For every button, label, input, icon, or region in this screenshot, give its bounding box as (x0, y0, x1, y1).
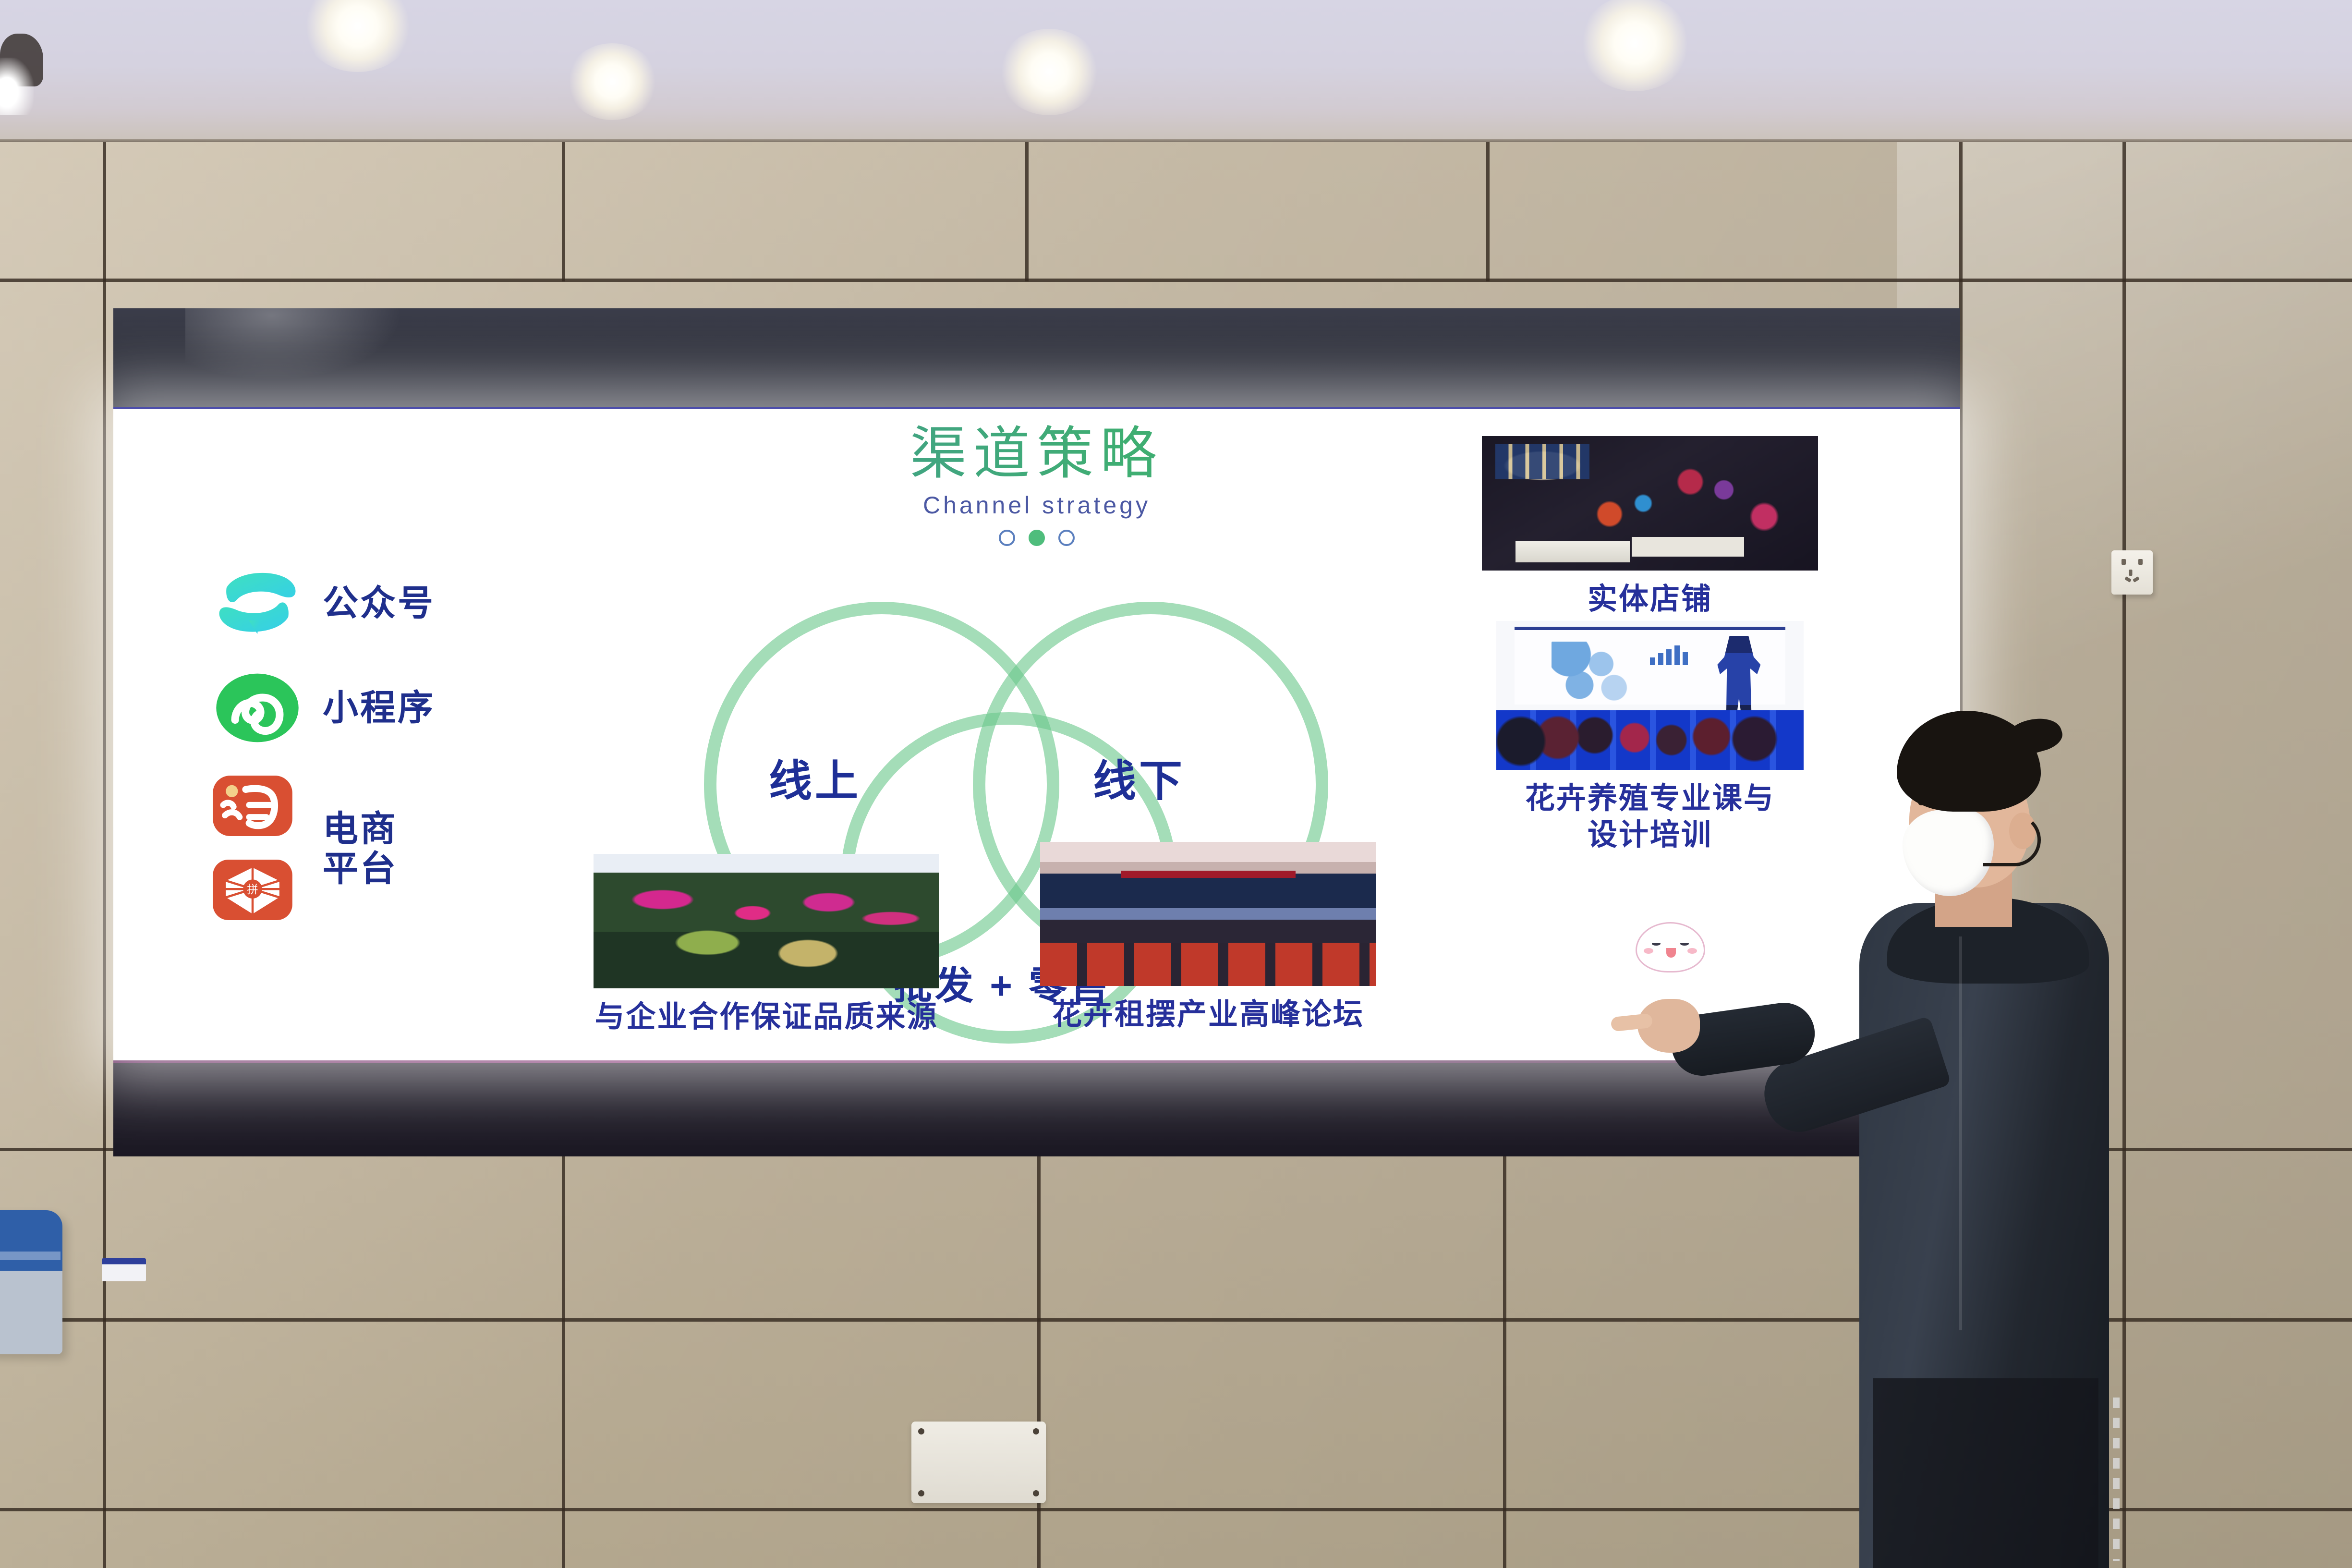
caption-flower-field: 与企业合作保证品质来源 (594, 999, 939, 1035)
progress-dot-3 (1058, 530, 1075, 546)
pants-side-stripe (2113, 1398, 2120, 1561)
wall-access-panel (911, 1422, 1046, 1503)
venn-label-online: 线上 (769, 746, 861, 808)
tile-grout-line (1486, 142, 1490, 281)
downlight-2 (999, 29, 1100, 115)
socket-hole (2122, 559, 2126, 565)
progress-dot-1 (999, 530, 1015, 546)
screen-top-bezel (113, 308, 1960, 409)
channel-label-ecommerce-line2: 平台 (323, 849, 398, 888)
caption-training-course: 花卉养殖专业课与 设计培训 (1496, 780, 1804, 853)
taobao-icon (209, 770, 305, 844)
wall-light-glow (0, 58, 34, 115)
power-socket (2111, 550, 2153, 595)
presentation-slide[interactable]: 渠道策略 Channel strategy (113, 407, 1960, 1060)
sticker-mouth (1666, 948, 1676, 958)
tile-grout-line (1037, 1148, 1041, 1568)
presenter-pants (1873, 1378, 2098, 1568)
trash-bin (0, 1210, 62, 1354)
screen-bottom-bezel (113, 1060, 1960, 1156)
photo-industry-forum (1040, 842, 1376, 986)
channel-label-ecommerce-line1: 电商 (323, 809, 398, 849)
socket-hole (2138, 559, 2143, 565)
caption-industry-forum: 花卉租摆产业高峰论坛 (1040, 997, 1376, 1033)
socket-hole (2129, 570, 2133, 576)
tile-grout-line (562, 1148, 565, 1568)
audience-seats-graphic (1496, 710, 1804, 770)
panel-screw (1033, 1428, 1039, 1434)
progress-dot-2 (1029, 530, 1045, 546)
hoodie-zipper (1959, 936, 1962, 1330)
sticker-cheek (1644, 948, 1653, 954)
photo-card-industry-forum: 花卉租摆产业高峰论坛 (1040, 842, 1376, 1033)
channel-label-mini-program: 小程序 (323, 688, 435, 728)
tile-grout-line (1503, 1148, 1506, 1568)
board-bar-chart-graphic (1650, 645, 1688, 665)
panel-screw (1033, 1490, 1039, 1496)
wechat-official-account-icon (209, 561, 305, 645)
caption-physical-store: 实体店铺 (1482, 581, 1818, 618)
caption-training-line2: 设计培训 (1588, 818, 1712, 851)
sticker-cheek (1687, 948, 1697, 954)
photo-physical-store (1482, 436, 1818, 571)
socket-hole (2124, 576, 2132, 583)
venn-label-offline: 线下 (1093, 746, 1185, 808)
sticker-eye (1652, 942, 1661, 946)
channel-item-official-account: 公众号 (209, 561, 574, 645)
board-bubbles-graphic (1552, 642, 1631, 707)
photo-card-flower-field: 与企业合作保证品质来源 (594, 854, 939, 1035)
photo-training-course (1496, 621, 1804, 770)
downlight-3 (567, 43, 658, 120)
tile-grout-line (0, 279, 2352, 282)
ecommerce-icon-stack: 拼 (209, 770, 305, 928)
photo-flower-field (594, 854, 939, 988)
tile-grout-line (562, 142, 565, 281)
socket-hole (2133, 576, 2140, 583)
presenter (1815, 711, 2151, 1568)
slide-top-edge (113, 407, 1960, 409)
pinduoduo-icon: 拼 (209, 854, 305, 928)
channel-item-ecommerce: 拼 电商 平台 (209, 770, 574, 928)
photo-card-physical-store: 实体店铺 (1482, 436, 1818, 618)
cat-face-sticker (1636, 922, 1705, 972)
channel-item-mini-program: 小程序 (209, 666, 574, 750)
face-mask-strap (1983, 814, 2041, 866)
caption-training-line1: 花卉养殖专业课与 (1525, 782, 1775, 815)
sticker-eye (1680, 942, 1689, 946)
tile-grout-line (103, 142, 106, 1568)
channel-label-official-account: 公众号 (323, 583, 435, 623)
svg-text:拼: 拼 (247, 883, 258, 896)
presenter-hair (1897, 711, 2041, 812)
tile-grout-line (1025, 142, 1029, 281)
panel-screw (918, 1428, 924, 1434)
photo-card-training-course: 花卉养殖专业课与 设计培训 (1496, 621, 1804, 853)
channel-label-ecommerce: 电商 平台 (323, 809, 398, 889)
wechat-mini-program-icon (209, 666, 305, 750)
panel-screw (918, 1490, 924, 1496)
channel-list: 公众号 小程序 (209, 561, 574, 928)
equipment-label-sticker (102, 1258, 146, 1281)
